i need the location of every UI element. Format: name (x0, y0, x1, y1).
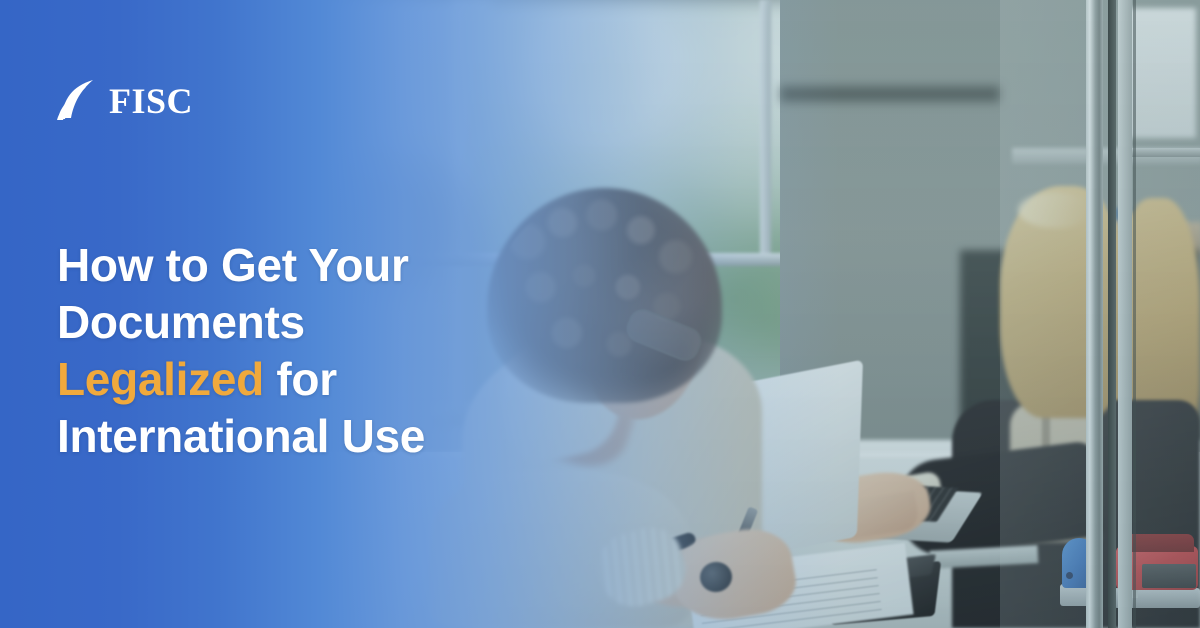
fisc-logo[interactable]: FISC (57, 78, 193, 124)
blog-hero-banner: FISC How to Get Your Documents Legalized… (0, 0, 1200, 628)
headline-line-1: How to Get Your (57, 239, 409, 291)
headline-line-3-suffix: for (264, 353, 337, 405)
sail-wing-logo-icon (57, 78, 99, 124)
headline-line-4: International Use (57, 410, 425, 462)
banner-content: FISC How to Get Your Documents Legalized… (0, 0, 1200, 628)
page-title: How to Get Your Documents Legalized for … (57, 237, 487, 465)
headline-accent-word: Legalized (57, 353, 264, 405)
headline-line-2: Documents (57, 296, 305, 348)
logo-wordmark: FISC (109, 83, 193, 119)
